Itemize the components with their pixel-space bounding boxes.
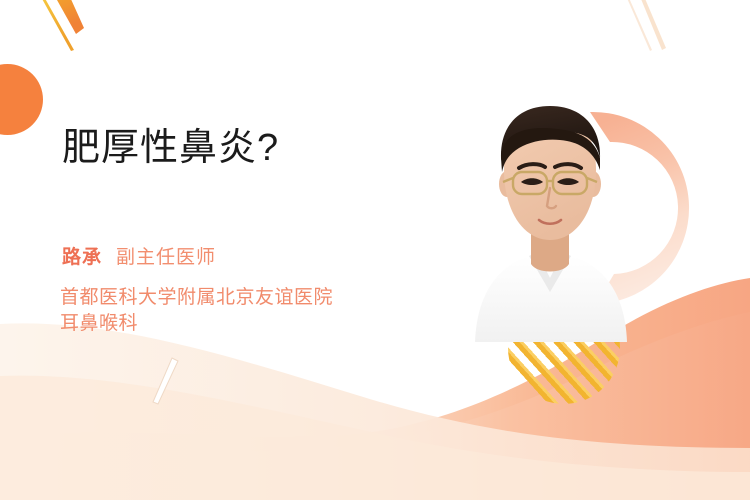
stripe-bottom-left-icon <box>138 352 208 412</box>
stripe-outline <box>153 358 178 404</box>
page-title: 肥厚性鼻炎? <box>62 116 279 171</box>
doctor-intro-card: 肥厚性鼻炎? 路承副主任医师 首都医科大学附属北京友谊医院 耳鼻喉科 <box>0 0 750 500</box>
doctor-affiliation: 首都医科大学附属北京友谊医院 耳鼻喉科 <box>60 285 333 336</box>
doctor-portrait <box>455 92 645 342</box>
doctor-rank: 副主任医师 <box>116 247 216 268</box>
doctor-name-line: 路承副主任医师 <box>62 248 216 267</box>
hospital-name: 首都医科大学附属北京友谊医院 <box>60 285 333 311</box>
doctor-name: 路承 <box>62 247 102 268</box>
department-name: 耳鼻喉科 <box>60 311 333 337</box>
